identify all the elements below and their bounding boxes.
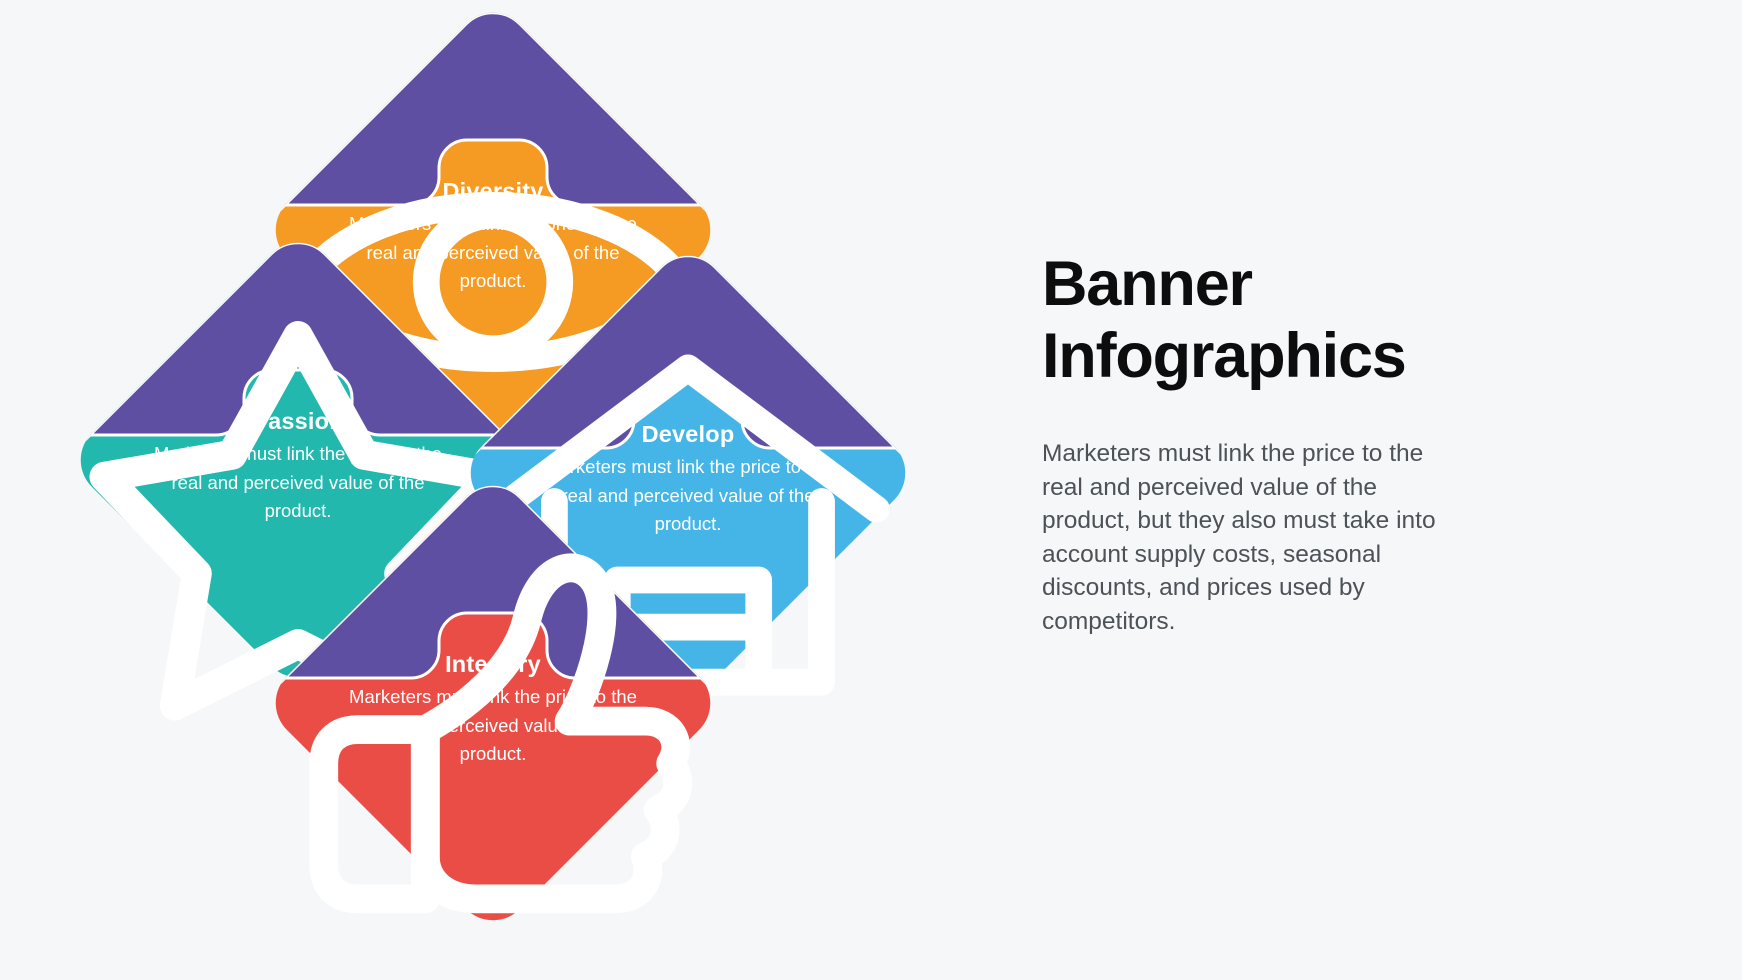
page-description: Marketers must link the price to the rea… xyxy=(1042,437,1442,638)
infographic-canvas: Diversity Marketers must link the price … xyxy=(0,0,1742,980)
page-title-line-2: Infographics xyxy=(1042,320,1462,392)
page-title: Banner Infographics xyxy=(1042,248,1462,392)
diamond-card-integriry[interactable]: Integriry Marketers must link the price … xyxy=(273,483,713,923)
right-text-panel: Banner Infographics Marketers must link … xyxy=(1042,248,1462,638)
page-title-line-1: Banner xyxy=(1042,248,1462,320)
diamond-cluster: Diversity Marketers must link the price … xyxy=(78,10,908,870)
